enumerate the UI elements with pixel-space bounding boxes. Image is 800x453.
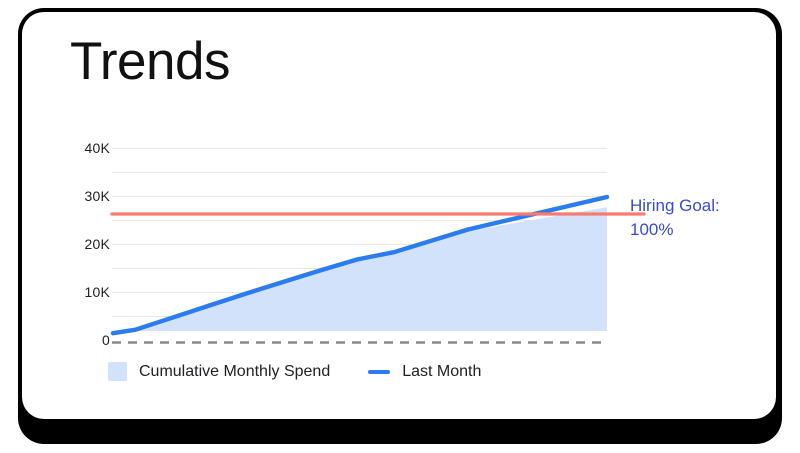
legend-item-last-month[interactable]: Last Month: [368, 363, 481, 381]
hiring-goal-annotation: Hiring Goal: 100%: [630, 194, 770, 242]
y-tick-30k: 30K: [66, 188, 110, 204]
legend-label-last-month: Last Month: [402, 363, 481, 381]
series-cumulative-monthly-spend-area: [113, 207, 607, 334]
y-tick-0: 0: [66, 332, 110, 348]
y-tick-40k: 40K: [66, 140, 110, 156]
y-axis-tick-labels: 40K 30K 20K 10K 0: [66, 12, 110, 419]
trends-card: Trends: [22, 12, 776, 419]
legend-label-cumulative-monthly-spend: Cumulative Monthly Spend: [139, 363, 330, 381]
area-swatch-icon: [108, 362, 127, 381]
hiring-goal-label: Hiring Goal:: [630, 194, 770, 218]
legend-item-cumulative-monthly-spend[interactable]: Cumulative Monthly Spend: [108, 362, 330, 381]
chart-legend: Cumulative Monthly Spend Last Month: [108, 362, 481, 381]
y-tick-20k: 20K: [66, 236, 110, 252]
y-tick-10k: 10K: [66, 284, 110, 300]
hiring-goal-value: 100%: [630, 218, 770, 242]
screenshot-root: Trends: [0, 0, 800, 453]
line-swatch-icon: [368, 370, 390, 374]
